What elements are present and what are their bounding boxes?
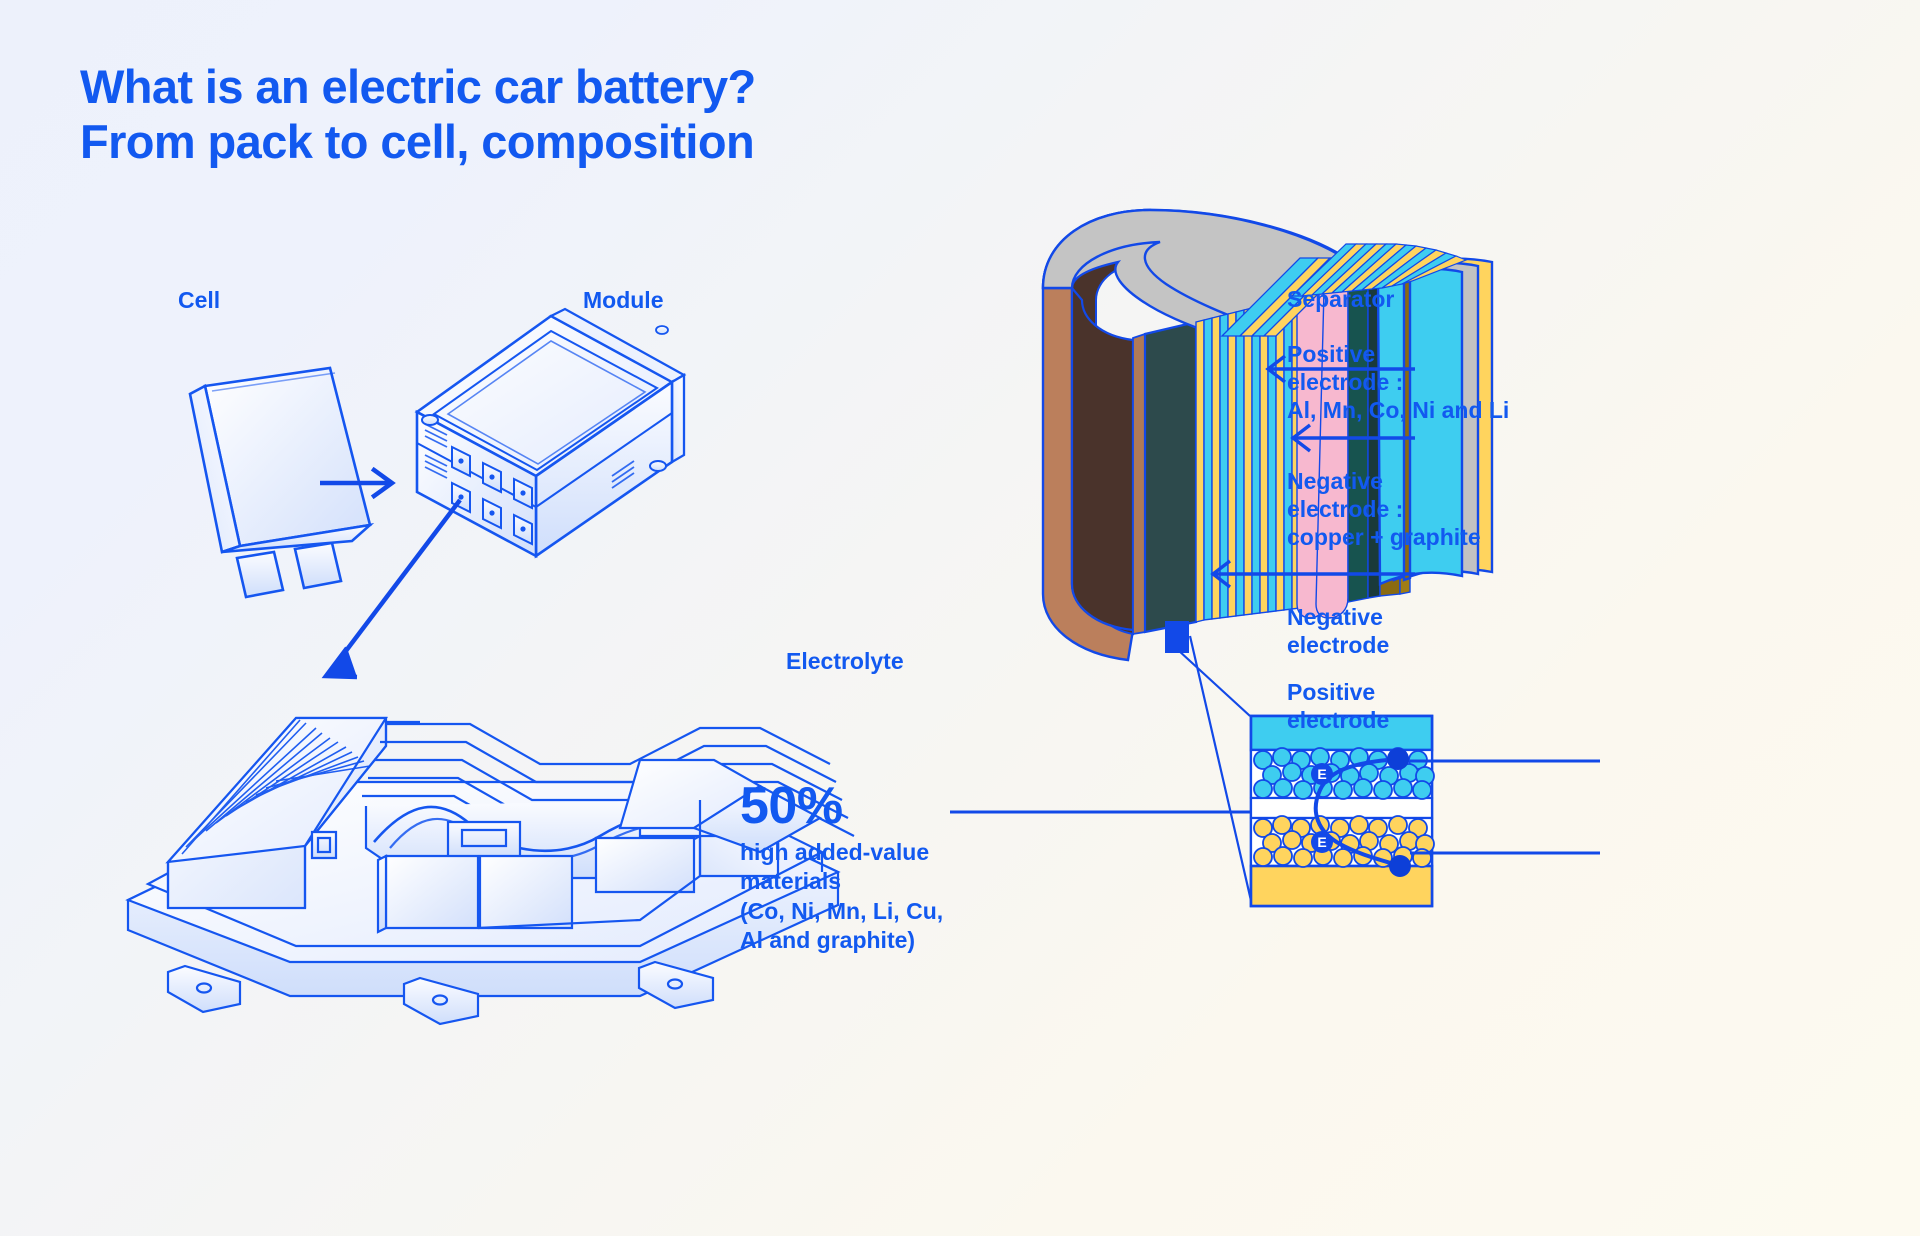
jellyroll-cell-illustration [1043,210,1492,660]
label-zoom-positive: Positive electrode [1287,678,1389,734]
label-cell: Cell [178,286,220,314]
module-illustration [417,309,684,556]
electrolyte-detail-box: E E [1178,636,1434,906]
label-positive-electrode: Positive electrode : Al, Mn, Co, Ni and … [1287,340,1509,424]
electron-symbol-negative: E [1317,766,1326,782]
stat-value: 50% [740,780,943,832]
label-electrolyte: Electrolyte [786,647,904,675]
label-zoom-negative: Negative electrode [1287,603,1389,659]
ion-top [1387,748,1409,770]
electrolyte-marker [1166,622,1188,652]
illustration-layer: E E [0,0,1920,1236]
stat-block: 50% high added-value materials (Co, Ni, … [740,780,943,956]
label-module: Module [583,286,664,314]
electron-symbol-positive: E [1317,834,1326,850]
ion-bottom [1389,855,1411,877]
detail-leader-lines [1178,636,1252,905]
stat-description: high added-value materials (Co, Ni, Mn, … [740,838,943,956]
label-separator: Separator [1287,285,1394,313]
label-negative-electrode: Negative electrode : copper + graphite [1287,467,1481,551]
infographic-canvas: What is an electric car battery? From pa… [0,0,1920,1236]
